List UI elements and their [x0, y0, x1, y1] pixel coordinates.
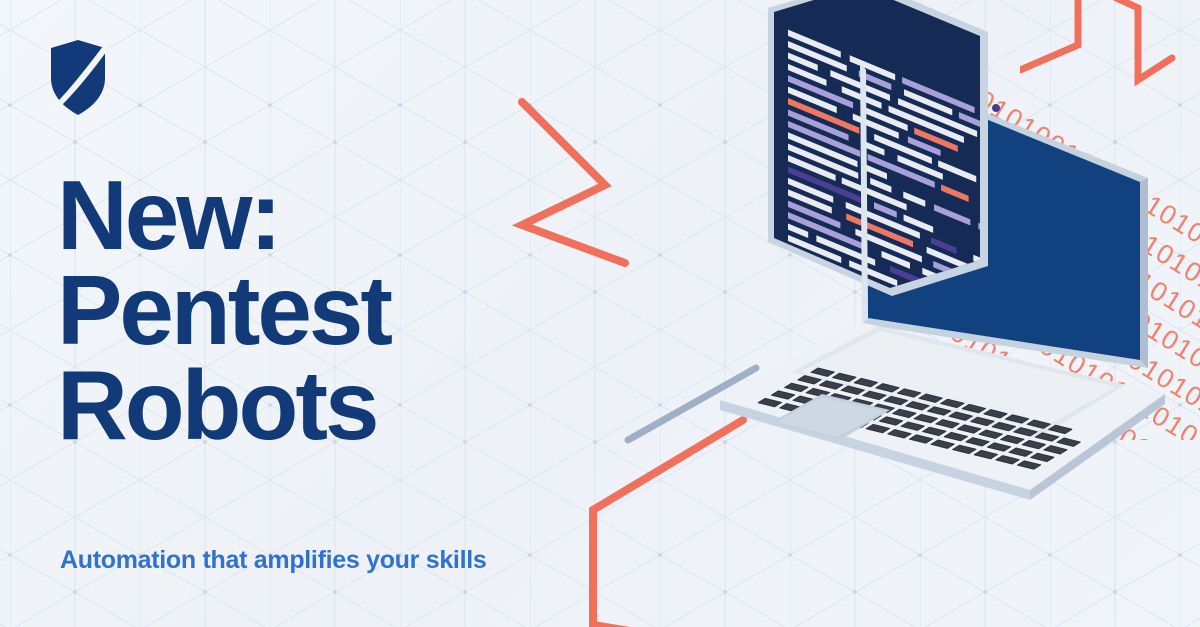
promo-banner: New: Pentest Robots Automation that ampl… — [0, 0, 1200, 627]
shield-swoosh-logo — [47, 38, 109, 118]
isometric-laptop-illustration — [560, 0, 1200, 627]
camera-dot-small — [992, 104, 1000, 112]
code-line-segment — [824, 284, 864, 307]
code-line-segment — [788, 269, 814, 286]
headline-line-3: Robots — [57, 358, 617, 453]
headline-line-2: Pentest — [57, 263, 617, 358]
subtitle: Automation that amplifies your skills — [60, 546, 486, 575]
